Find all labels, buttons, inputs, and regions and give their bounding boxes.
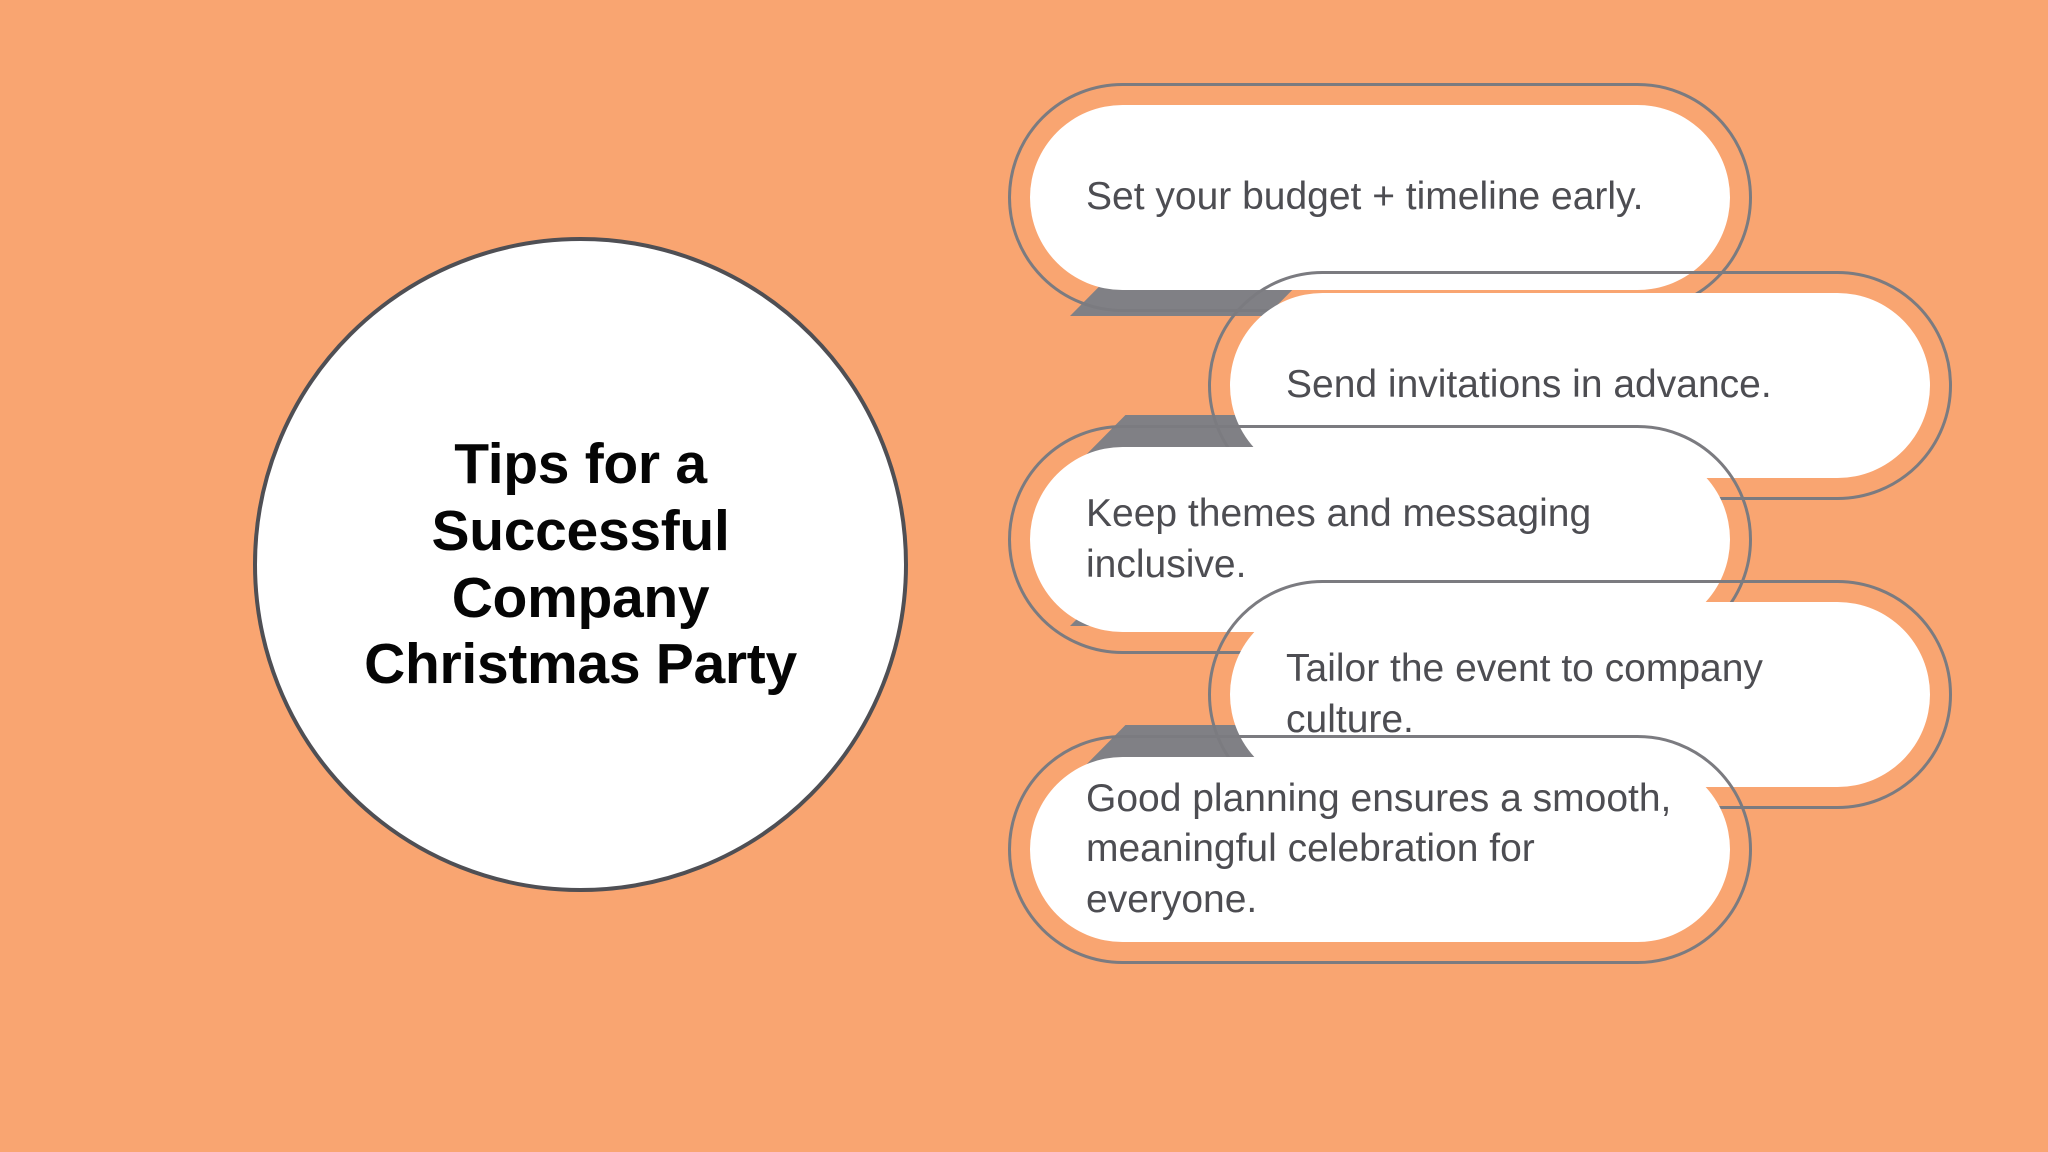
page-title: Tips for a Successful Company Christmas … bbox=[334, 431, 827, 698]
infographic-canvas: Tips for a Successful Company Christmas … bbox=[0, 0, 2048, 1152]
tip-text: Good planning ensures a smooth, meaningf… bbox=[1086, 774, 1674, 925]
tip-text: Tailor the event to company culture. bbox=[1286, 644, 1874, 745]
tip-text: Keep themes and messaging inclusive. bbox=[1086, 489, 1591, 590]
pill-body[interactable]: Set your budget + timeline early. bbox=[1030, 105, 1730, 290]
list-item[interactable]: Good planning ensures a smooth, meaningf… bbox=[1030, 757, 1730, 942]
tips-list: Set your budget + timeline early. Send i… bbox=[1030, 105, 1970, 1065]
tip-text: Set your budget + timeline early. bbox=[1086, 172, 1644, 222]
pill-body[interactable]: Good planning ensures a smooth, meaningf… bbox=[1030, 757, 1730, 942]
tip-text: Send invitations in advance. bbox=[1286, 360, 1772, 410]
title-circle: Tips for a Successful Company Christmas … bbox=[253, 237, 908, 892]
list-item[interactable]: Set your budget + timeline early. bbox=[1030, 105, 1730, 290]
